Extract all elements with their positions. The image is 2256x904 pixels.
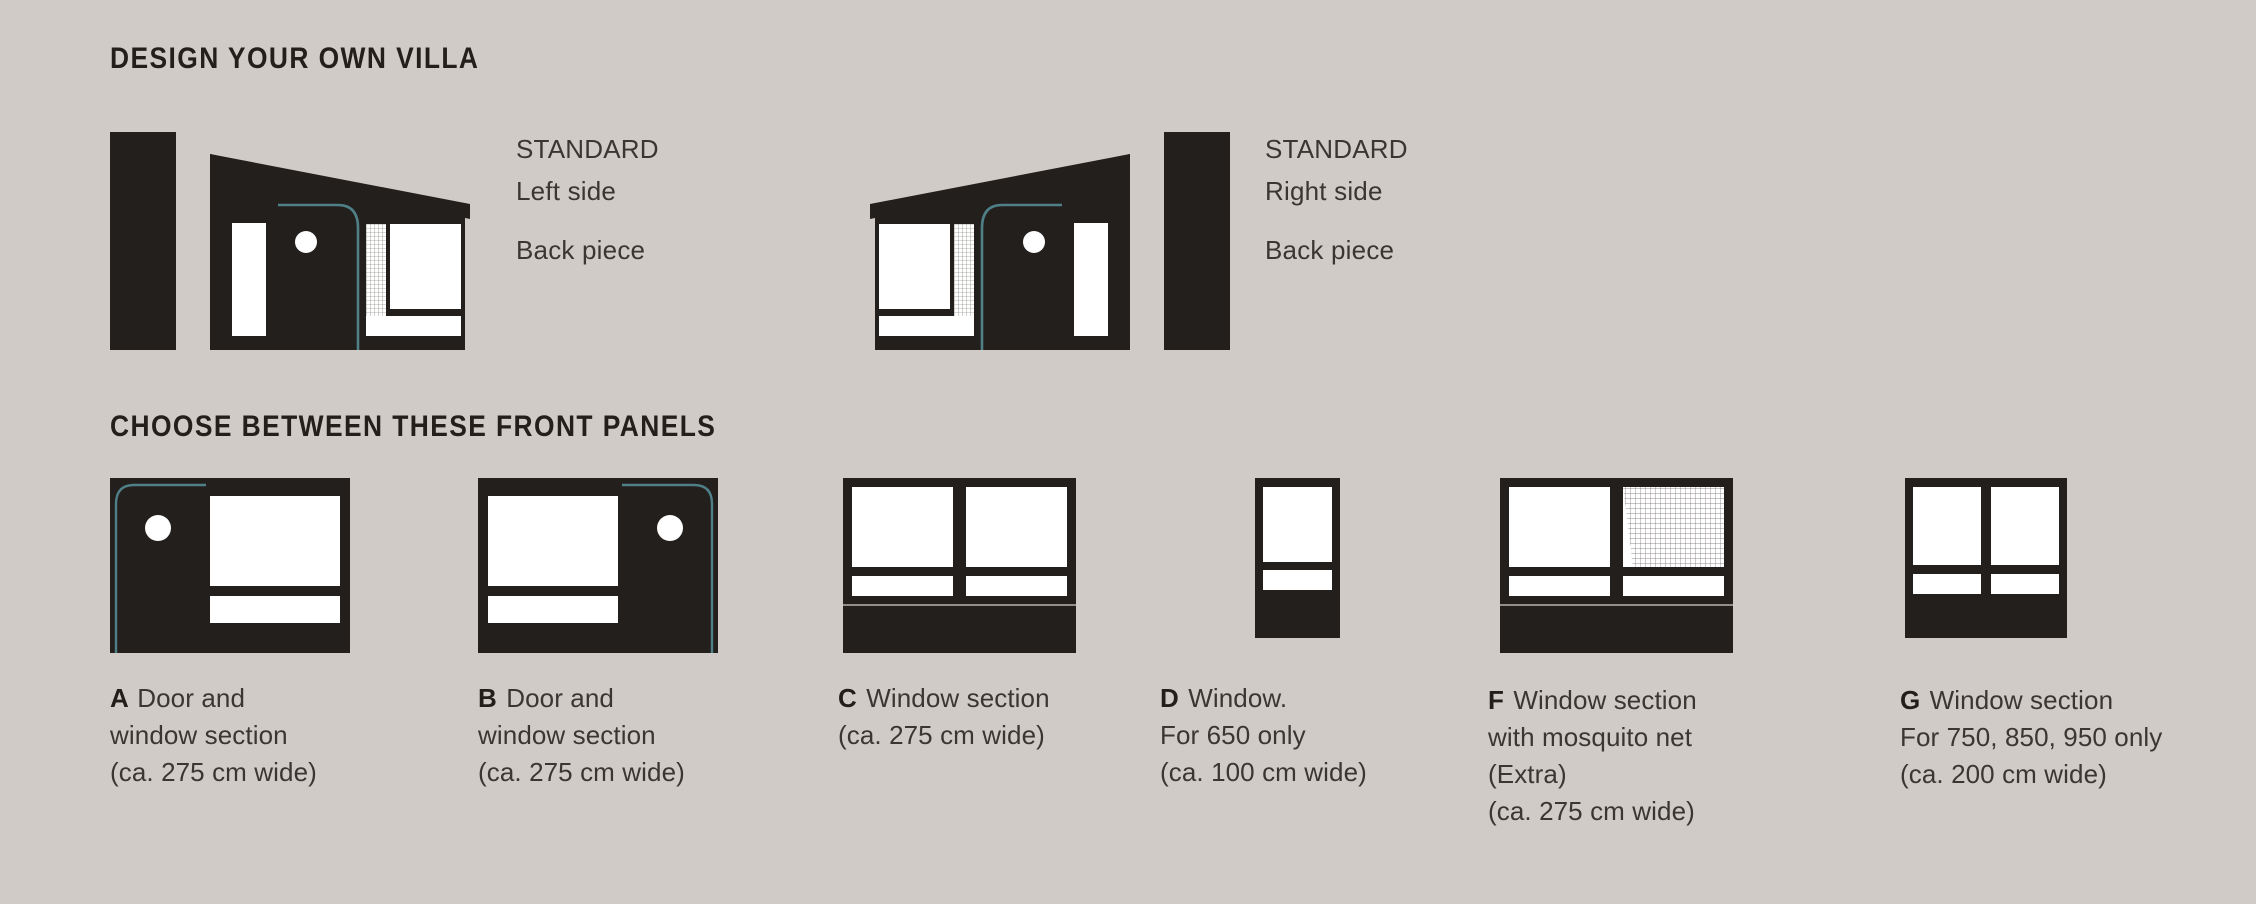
panel-D-line3-text: (ca. 100 cm wide) [1160, 754, 1367, 791]
villa-right-caption-line1: STANDARD [1265, 136, 1408, 162]
section-title-choose-front-panels: CHOOSE BETWEEN THESE FRONT PANELS [110, 410, 716, 444]
panel-G-line1-text: Window section [1930, 685, 2113, 715]
panel-C-pane-lower-left [852, 576, 953, 596]
villa-left-window-upper [390, 224, 461, 309]
villa-standard-row: STANDARD Left side Back piece [0, 120, 2256, 360]
panel-D-line2-text: For 650 only [1160, 717, 1367, 754]
panel-B-door-knob [657, 515, 683, 541]
panel-G-svg [1905, 478, 2067, 638]
panel-F-svg [1500, 478, 1733, 653]
panel-option-A[interactable] [110, 478, 350, 653]
villa-right-caption: STANDARD Right side Back piece [1265, 136, 1408, 263]
villa-left-window-lower [366, 316, 461, 336]
villa-left-svg [110, 120, 470, 350]
panel-C-label-line1: C Window section [838, 680, 1050, 717]
villa-left-caption-line1: STANDARD [516, 136, 659, 162]
front-panels-row [0, 478, 2256, 678]
panel-option-F[interactable] [1500, 478, 1733, 653]
panel-C-pane-upper-right [966, 487, 1067, 567]
panel-option-D[interactable] [1255, 478, 1340, 638]
villa-left-side-illustration [110, 120, 470, 360]
panel-F-line2-text: with mosquito net [1488, 719, 1697, 756]
panel-F-pane-lower-right [1623, 576, 1724, 596]
panel-A-line1-text: Door and [137, 683, 245, 713]
panel-C-letter: C [838, 683, 864, 713]
panel-A-svg [110, 478, 350, 653]
panel-F-mosquito-net [1623, 487, 1724, 567]
villa-right-window-upper [879, 224, 950, 309]
page-title-design-your-own-villa: DESIGN YOUR OWN VILLA [110, 42, 479, 76]
villa-right-window-lower [879, 316, 974, 336]
panel-F-pane-upper-left [1509, 487, 1610, 567]
panel-D-svg [1255, 478, 1340, 638]
panel-B-window-lower [488, 596, 618, 623]
villa-right-narrow-window [1074, 223, 1108, 336]
panel-G-pane-lower-right [1991, 574, 2059, 594]
villa-right-svg [870, 120, 1230, 350]
panel-G-line3-text: (ca. 200 cm wide) [1900, 756, 2162, 793]
panel-A-window-lower [210, 596, 340, 623]
panel-B-label-line1: B Door and [478, 680, 685, 717]
panel-G-pane-upper-left [1913, 487, 1981, 565]
panel-C-pane-lower-right [966, 576, 1067, 596]
villa-right-caption-line2: Right side [1265, 178, 1408, 204]
panel-B-label: B Door and window section (ca. 275 cm wi… [478, 680, 685, 791]
panel-G-pane-lower-left [1913, 574, 1981, 594]
panel-B-line1-text: Door and [506, 683, 614, 713]
panel-B-letter: B [478, 683, 504, 713]
panel-C-svg [843, 478, 1076, 653]
panel-F-letter: F [1488, 685, 1511, 715]
panel-F-line3-text: (Extra) [1488, 756, 1697, 793]
panel-F-label: F Window section with mosquito net (Extr… [1488, 682, 1697, 830]
panel-F-pane-lower-left [1509, 576, 1610, 596]
panel-A-label: A Door and window section (ca. 275 cm wi… [110, 680, 317, 791]
panel-F-line4-text: (ca. 275 cm wide) [1488, 793, 1697, 830]
panel-D-line1-text: Window. [1188, 683, 1287, 713]
villa-left-caption-line3: Back piece [516, 237, 659, 263]
panel-G-letter: G [1900, 685, 1928, 715]
panel-C-label: C Window section (ca. 275 cm wide) [838, 680, 1050, 754]
panel-A-line3-text: (ca. 275 cm wide) [110, 754, 317, 791]
panel-D-pane-upper [1263, 487, 1332, 562]
panel-G-label: G Window section For 750, 850, 950 only … [1900, 682, 2162, 793]
panel-B-window-upper [488, 496, 618, 586]
panel-A-door-knob [145, 515, 171, 541]
panel-B-svg [478, 478, 718, 653]
villa-left-back-piece [110, 132, 176, 350]
panel-D-label: D Window. For 650 only (ca. 100 cm wide) [1160, 680, 1367, 791]
panel-D-letter: D [1160, 683, 1186, 713]
panel-A-label-line1: A Door and [110, 680, 317, 717]
panel-A-letter: A [110, 683, 135, 713]
panel-A-window-upper [210, 496, 340, 586]
panel-option-G[interactable] [1905, 478, 2067, 638]
panel-C-line2-text: (ca. 275 cm wide) [838, 717, 1050, 754]
panel-G-label-line1: G Window section [1900, 682, 2162, 719]
villa-right-door-knob [1023, 231, 1045, 253]
panel-D-pane-lower [1263, 570, 1332, 590]
villa-right-caption-line3: Back piece [1265, 237, 1408, 263]
villa-configurator-page: DESIGN YOUR OWN VILLA [0, 0, 2256, 904]
panel-C-line1-text: Window section [866, 683, 1049, 713]
villa-left-caption-line2: Left side [516, 178, 659, 204]
panel-B-line3-text: (ca. 275 cm wide) [478, 754, 685, 791]
villa-right-side-illustration [870, 120, 1230, 360]
villa-left-door-knob [295, 231, 317, 253]
panel-C-pane-upper-left [852, 487, 953, 567]
panel-F-line1-text: Window section [1513, 685, 1696, 715]
panel-option-B[interactable] [478, 478, 718, 653]
panel-B-line2-text: window section [478, 717, 685, 754]
panel-G-line2-text: For 750, 850, 950 only [1900, 719, 2162, 756]
panel-F-label-line1: F Window section [1488, 682, 1697, 719]
panel-D-label-line1: D Window. [1160, 680, 1367, 717]
villa-left-caption: STANDARD Left side Back piece [516, 136, 659, 263]
panel-option-C[interactable] [843, 478, 1076, 653]
panel-A-line2-text: window section [110, 717, 317, 754]
villa-right-back-piece [1164, 132, 1230, 350]
panel-G-pane-upper-right [1991, 487, 2059, 565]
villa-left-narrow-window [232, 223, 266, 336]
